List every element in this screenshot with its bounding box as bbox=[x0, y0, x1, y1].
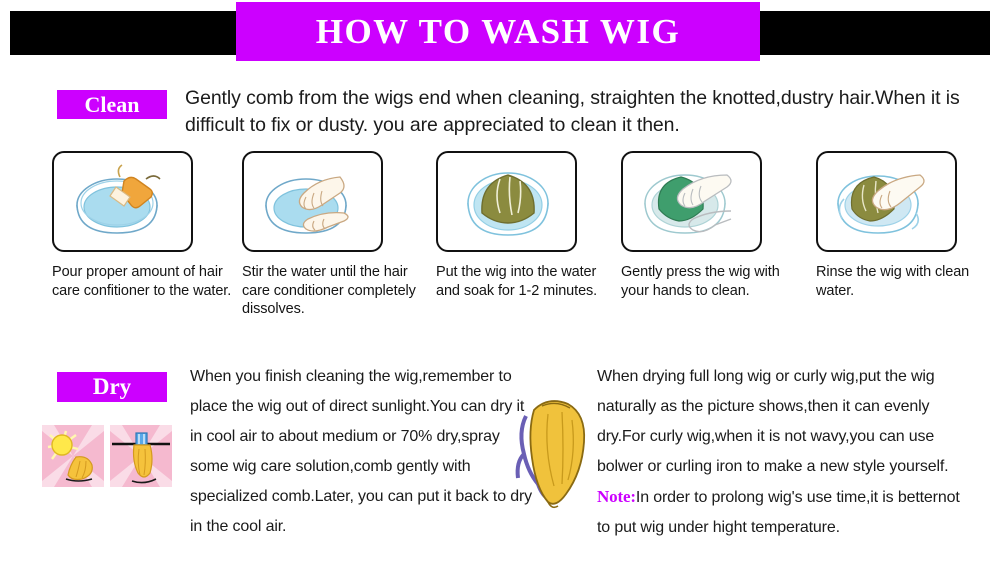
wash-step-3: Put the wig into the water and soak for … bbox=[436, 151, 577, 300]
basin-rinse-wig-icon bbox=[816, 151, 957, 252]
wash-step-5: Rinse the wig with clean water. bbox=[816, 151, 957, 300]
dry-right-paragraph: When drying full long wig or curly wig,p… bbox=[597, 362, 965, 543]
wash-step-1: Pour proper amount of hair care confitio… bbox=[52, 151, 193, 300]
basin-soak-wig-icon bbox=[436, 151, 577, 252]
note-label: Note: bbox=[597, 487, 636, 506]
dry-section: Dry bbox=[0, 360, 1000, 564]
hanging-hair-clip-icon bbox=[110, 425, 172, 487]
clean-badge: Clean bbox=[57, 90, 167, 119]
wash-step-1-caption: Pour proper amount of hair care confitio… bbox=[52, 263, 232, 300]
clean-description: Gently comb from the wigs end when clean… bbox=[185, 85, 985, 139]
wash-step-5-caption: Rinse the wig with clean water. bbox=[816, 263, 991, 300]
wash-step-4: Gently press the wig with your hands to … bbox=[621, 151, 762, 300]
hanging-blonde-wig-icon bbox=[508, 380, 604, 520]
sun-drying-hair-icon bbox=[42, 425, 104, 487]
dry-badge: Dry bbox=[57, 372, 167, 402]
dry-thumbnails bbox=[42, 425, 172, 487]
basin-pour-conditioner-icon bbox=[52, 151, 193, 252]
wash-step-2-caption: Stir the water until the hair care condi… bbox=[242, 263, 422, 319]
basin-press-wig-icon bbox=[621, 151, 762, 252]
dry-left-paragraph: When you finish cleaning the wig,remembe… bbox=[190, 362, 535, 542]
dry-right-text: When drying full long wig or curly wig,p… bbox=[597, 368, 948, 475]
note-text: In order to prolong wig's use time,it is… bbox=[597, 489, 960, 536]
wash-step-4-caption: Gently press the wig with your hands to … bbox=[621, 263, 801, 300]
wash-step-2: Stir the water until the hair care condi… bbox=[242, 151, 383, 319]
infographic-page: HOW TO WASH WIG Clean Gently comb from t… bbox=[0, 0, 1000, 564]
page-title: HOW TO WASH WIG bbox=[316, 14, 681, 49]
header: HOW TO WASH WIG bbox=[0, 0, 1000, 66]
header-title-plate: HOW TO WASH WIG bbox=[236, 2, 760, 61]
wash-step-3-caption: Put the wig into the water and soak for … bbox=[436, 263, 608, 300]
basin-stir-hands-icon bbox=[242, 151, 383, 252]
